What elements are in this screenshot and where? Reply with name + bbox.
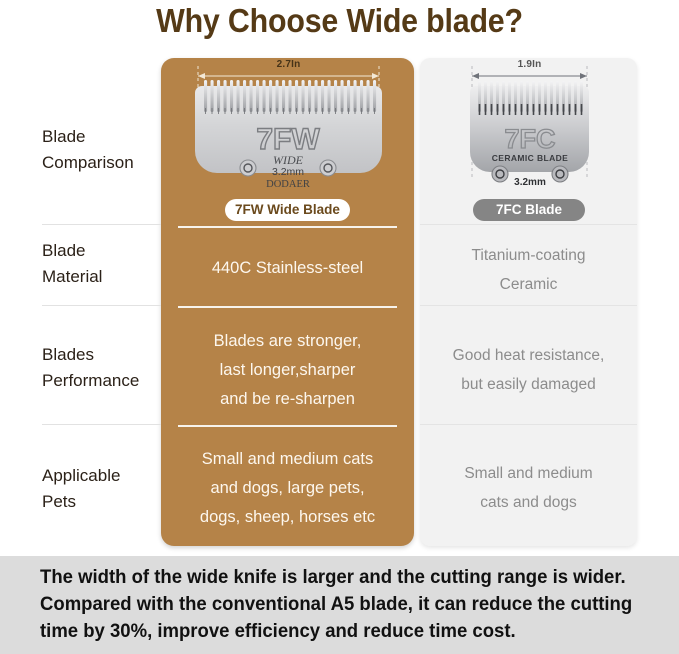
divider-mid-3 [178, 425, 397, 427]
svg-text:7FC: 7FC [504, 124, 555, 154]
cell-material-ceramic: Titanium-coating Ceramic [420, 241, 637, 299]
wide-blade-image: 7FW WIDE 3.2mm DODAER [186, 64, 391, 194]
ceramic-blade-pill-label: 7FC Blade [473, 199, 585, 221]
divider-mid-2 [178, 306, 397, 308]
divider-left-2 [42, 305, 161, 306]
row-label-blades-performance: Blades Performance [42, 342, 160, 394]
footer-text: The width of the wide knife is larger an… [40, 564, 620, 645]
cell-pets-ceramic: Small and medium cats and dogs [420, 459, 637, 517]
infographic-page: Why Choose Wide blade? Blade Comparison [0, 0, 679, 654]
svg-text:DODAER: DODAER [266, 179, 310, 190]
svg-text:7FW: 7FW [256, 123, 320, 156]
cell-pets-wide: Small and medium cats and dogs, large pe… [161, 445, 414, 532]
cell-material-wide: 440C Stainless-steel [161, 254, 414, 283]
divider-right-3 [420, 424, 637, 425]
wide-blade-svg: 7FW WIDE 3.2mm DODAER [186, 64, 391, 194]
svg-text:CERAMIC BLADE: CERAMIC BLADE [492, 153, 569, 163]
divider-left-1 [42, 224, 161, 225]
svg-text:3.2mm: 3.2mm [514, 177, 546, 188]
divider-left-3 [42, 424, 161, 425]
wide-blade-pill-label: 7FW Wide Blade [225, 199, 350, 221]
page-title: Why Choose Wide blade? [27, 2, 652, 40]
divider-mid-1 [178, 226, 397, 228]
row-label-blade-material: Blade Material [42, 238, 160, 290]
svg-text:3.2mm: 3.2mm [272, 166, 304, 178]
divider-right-1 [420, 224, 637, 225]
wide-blade-dimension-label: 2.7In [186, 59, 391, 70]
row-label-applicable-pets: Applicable Pets [42, 463, 160, 515]
cell-performance-wide: Blades are stronger, last longer,sharper… [161, 327, 414, 414]
ceramic-blade-dimension-label: 1.9In [462, 59, 597, 70]
ceramic-blade-image: 7FC CERAMIC BLADE 3.2mm [462, 64, 597, 194]
svg-text:WIDE: WIDE [273, 153, 304, 167]
row-label-blade-comparison: Blade Comparison [42, 124, 160, 176]
divider-right-2 [420, 305, 637, 306]
ceramic-blade-svg: 7FC CERAMIC BLADE 3.2mm [462, 64, 597, 194]
cell-performance-ceramic: Good heat resistance, but easily damaged [420, 341, 637, 399]
footer-band: The width of the wide knife is larger an… [0, 556, 679, 654]
